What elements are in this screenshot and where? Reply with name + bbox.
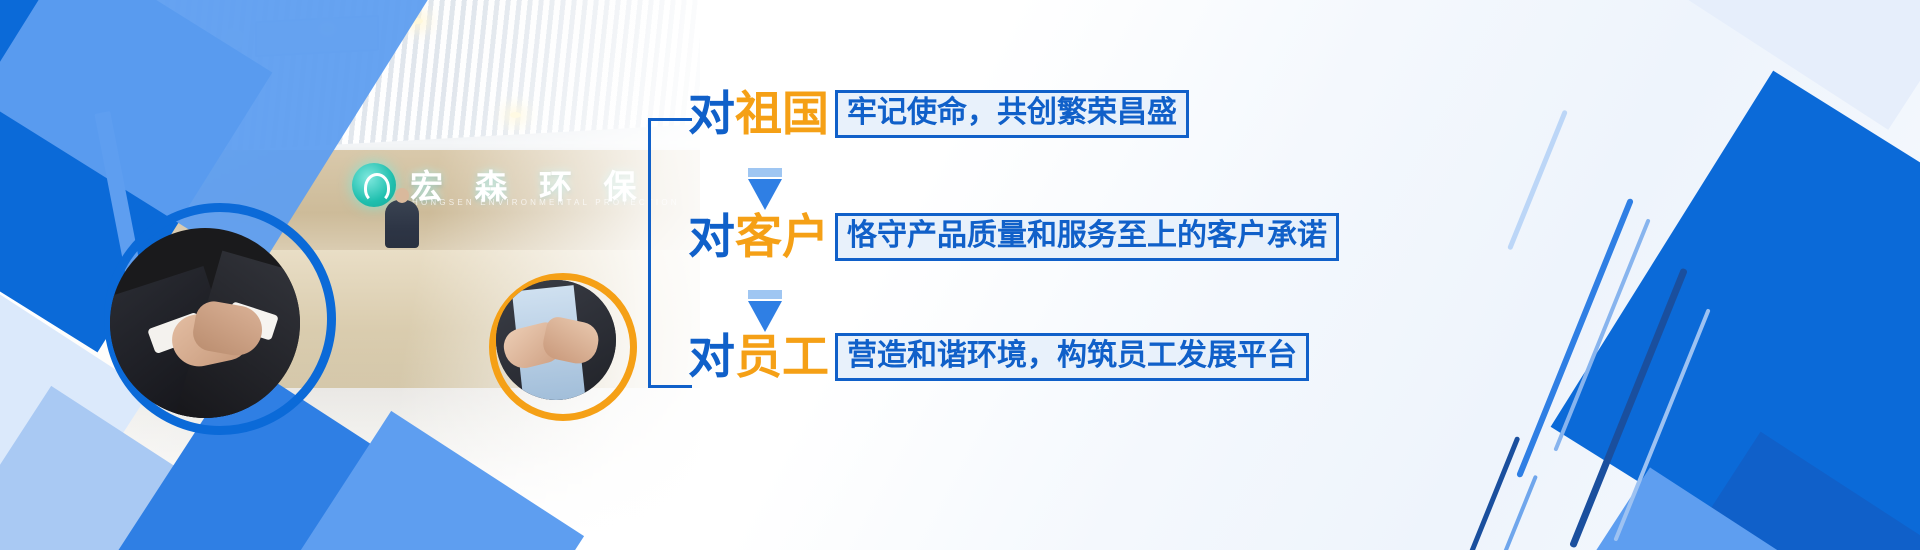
value-prefix-2: 对 — [688, 214, 735, 261]
value-label-3: 对员工 — [688, 334, 829, 381]
applause-photo — [496, 280, 616, 400]
value-row-zuguo: 对祖国 牢记使命，共创繁荣昌盛 — [688, 90, 1189, 138]
value-row-kehu: 对客户 恪守产品质量和服务至上的客户承诺 — [688, 213, 1339, 261]
value-prefix-1: 对 — [688, 91, 735, 138]
value-target-3: 员工 — [735, 334, 829, 381]
bracket-connector — [648, 118, 692, 388]
values-list: 对祖国 牢记使命，共创繁荣昌盛 对客户 恪守产品质量和服务至上的客户承诺 对员工… — [648, 78, 1408, 398]
value-target-1: 祖国 — [735, 91, 829, 138]
value-statement-2: 恪守产品质量和服务至上的客户承诺 — [835, 213, 1339, 261]
value-label-2: 对客户 — [688, 214, 829, 261]
value-statement-3: 营造和谐环境，构筑员工发展平台 — [835, 333, 1309, 381]
arrow-triangle — [748, 179, 782, 210]
handshake-photo — [110, 228, 300, 418]
value-row-yuangong: 对员工 营造和谐环境，构筑员工发展平台 — [688, 333, 1309, 381]
value-label-1: 对祖国 — [688, 91, 829, 138]
arrow-triangle — [748, 301, 782, 332]
value-prefix-3: 对 — [688, 334, 735, 381]
value-target-2: 客户 — [735, 214, 829, 261]
value-statement-1: 牢记使命，共创繁荣昌盛 — [835, 90, 1189, 138]
arrow-cap — [748, 168, 782, 177]
arrow-cap — [748, 290, 782, 299]
company-values-banner: 宏 森 环 保 HONGSEN ENVIRONMENTAL PROTECTION — [0, 0, 1920, 550]
